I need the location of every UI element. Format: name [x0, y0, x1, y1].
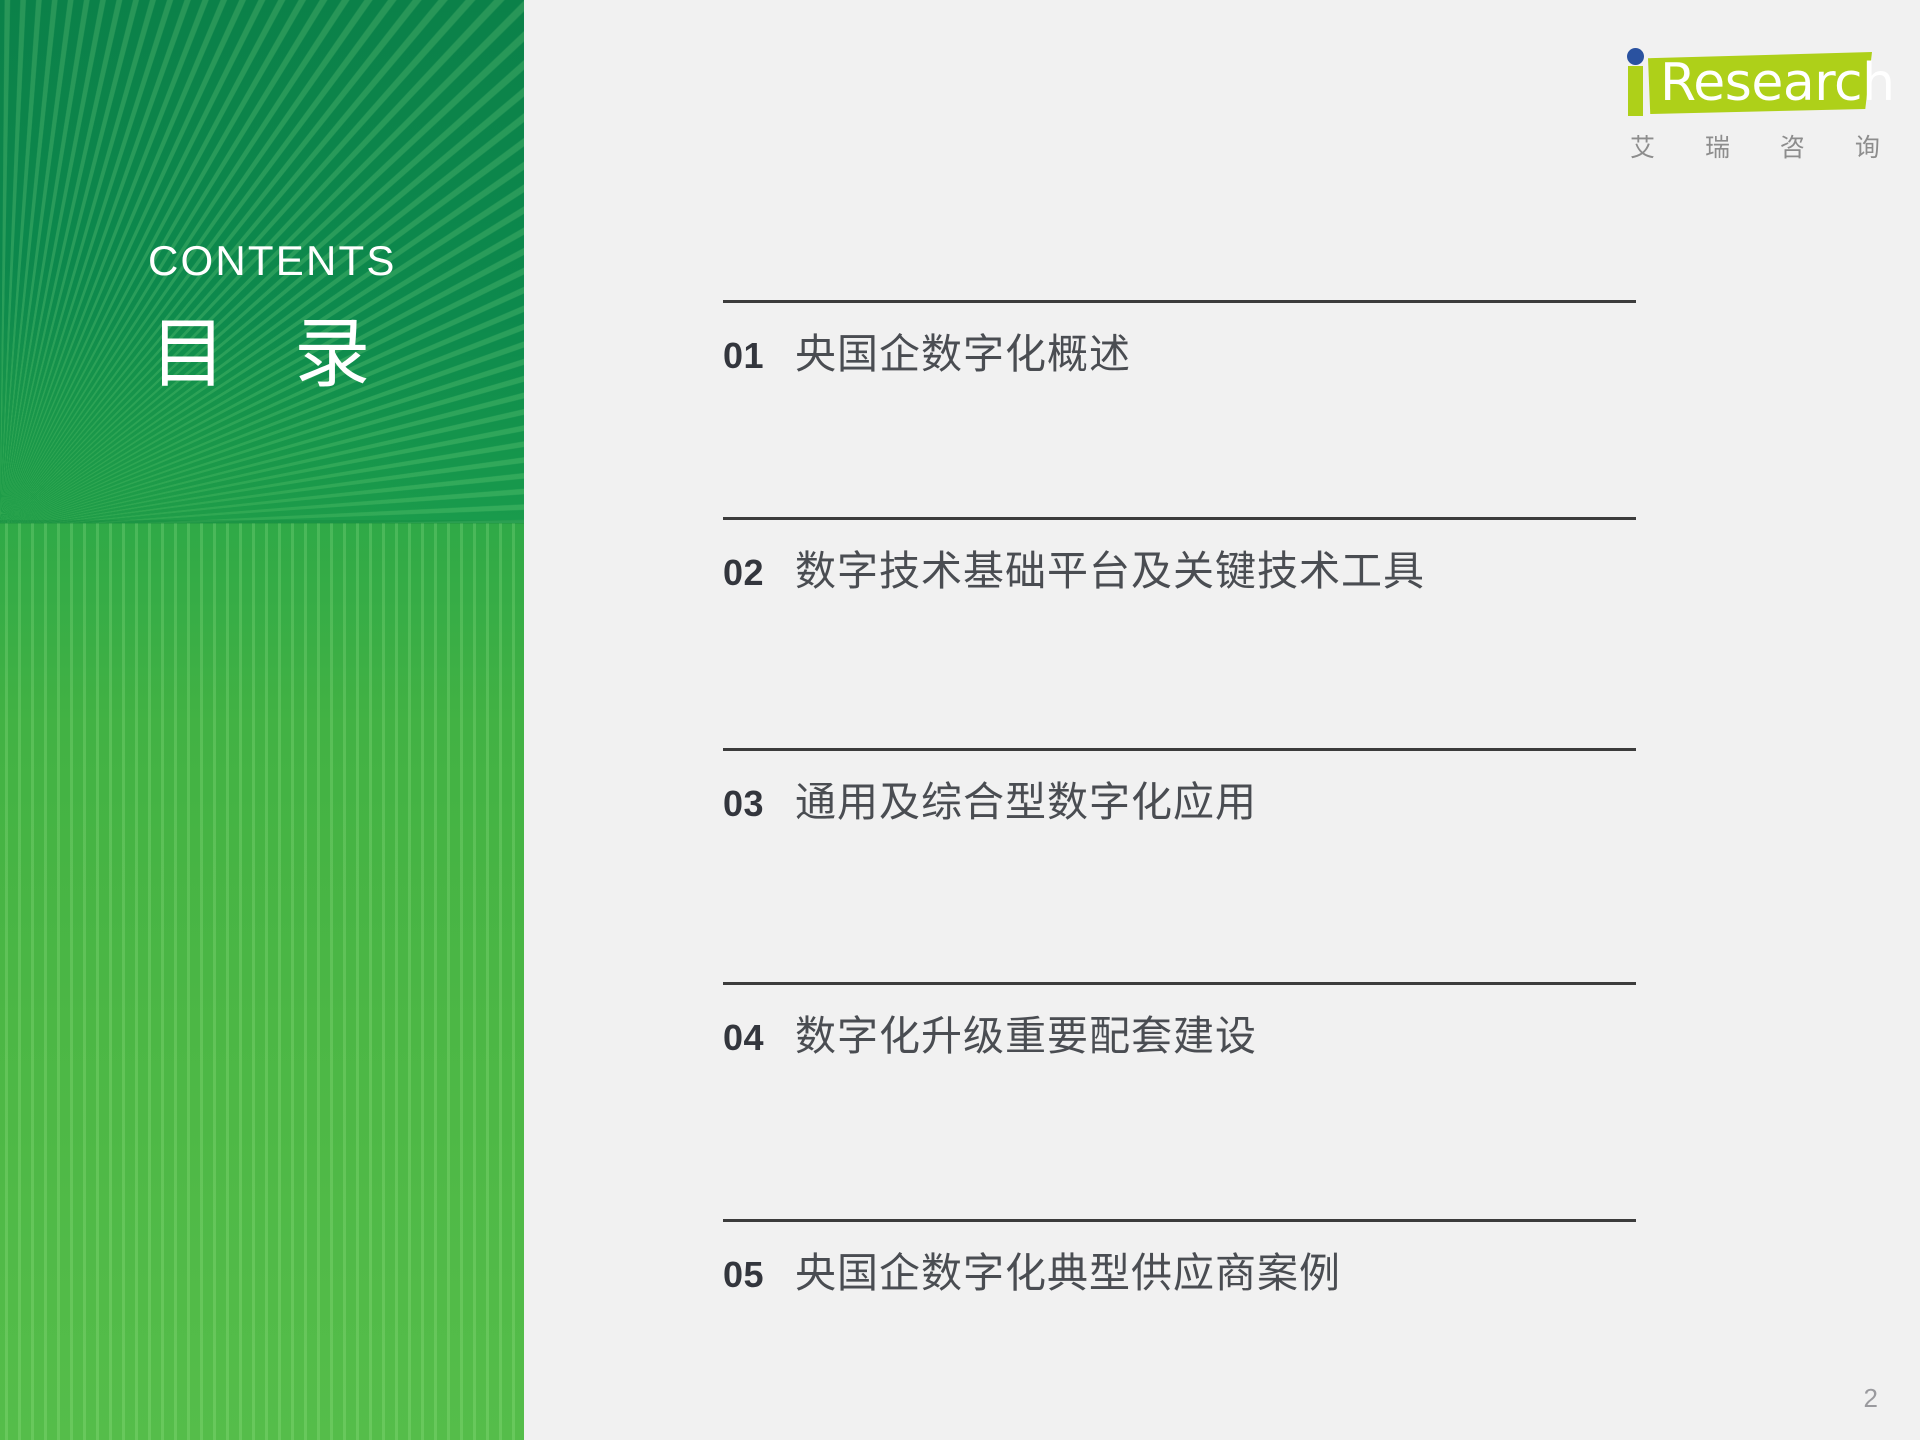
slide-root: CONTENTS 目 录 Research 艾 瑞 咨 询 01 央国企数字化概… [0, 0, 1920, 1440]
logo-wordmark: Research [1624, 44, 1872, 124]
toc-item-label: 央国企数字化典型供应商案例 [795, 1248, 1341, 1299]
toc-item-03[interactable]: 03 通用及综合型数字化应用 [723, 748, 1636, 828]
logo-i-dot-icon [1627, 48, 1644, 65]
toc-item-02[interactable]: 02 数字技术基础平台及关键技术工具 [723, 517, 1636, 597]
logo-chinese-subtitle: 艾 瑞 咨 询 [1624, 128, 1872, 164]
toc-item-01[interactable]: 01 央国企数字化概述 [723, 300, 1636, 380]
contents-title-english: CONTENTS [0, 240, 524, 282]
iresearch-logo: Research 艾 瑞 咨 询 [1624, 44, 1872, 164]
toc-item-row: 05 央国企数字化典型供应商案例 [723, 1222, 1636, 1299]
toc-item-row: 03 通用及综合型数字化应用 [723, 751, 1636, 828]
panel-transition-seam [0, 520, 524, 524]
toc-item-label: 数字技术基础平台及关键技术工具 [795, 546, 1425, 597]
logo-research-text: Research [1660, 53, 1895, 113]
left-decorative-panel: CONTENTS 目 录 [0, 0, 524, 1440]
toc-item-row: 02 数字技术基础平台及关键技术工具 [723, 520, 1636, 597]
toc-item-number: 04 [723, 1017, 795, 1059]
toc-item-label: 数字化升级重要配套建设 [795, 1011, 1257, 1062]
logo-i-stem-icon [1628, 66, 1643, 116]
toc-item-number: 02 [723, 552, 795, 594]
toc-item-number: 03 [723, 783, 795, 825]
contents-title-chinese: 目 录 [0, 310, 524, 397]
toc-item-label: 通用及综合型数字化应用 [795, 777, 1257, 828]
toc-item-label: 央国企数字化概述 [795, 329, 1131, 380]
page-number: 2 [1864, 1383, 1878, 1414]
table-of-contents: 01 央国企数字化概述 02 数字技术基础平台及关键技术工具 03 通用及综合型… [723, 300, 1636, 1299]
toc-item-row: 01 央国企数字化概述 [723, 303, 1636, 380]
contents-caption-block: CONTENTS 目 录 [0, 240, 524, 397]
toc-item-05[interactable]: 05 央国企数字化典型供应商案例 [723, 1219, 1636, 1299]
toc-item-number: 05 [723, 1254, 795, 1296]
vertical-stripes-pattern [0, 523, 524, 1440]
toc-item-row: 04 数字化升级重要配套建设 [723, 985, 1636, 1062]
toc-item-04[interactable]: 04 数字化升级重要配套建设 [723, 982, 1636, 1062]
toc-item-number: 01 [723, 335, 795, 377]
